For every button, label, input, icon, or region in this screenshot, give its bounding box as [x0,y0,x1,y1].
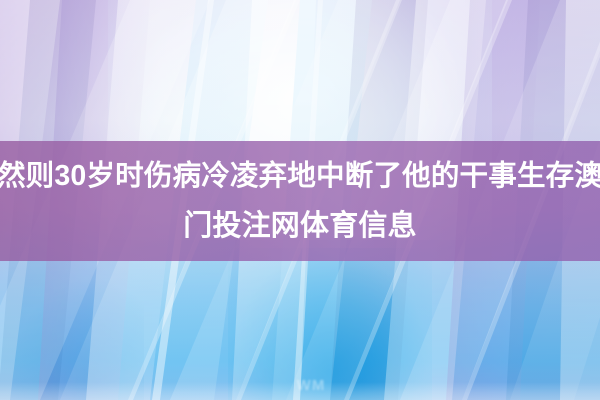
text-overlay-band: 然则30岁时伤病冷凌弃地中断了他的干事生存澳 门投注网体育信息 [0,141,600,261]
banner-image: 然则30岁时伤病冷凌弃地中断了他的干事生存澳 门投注网体育信息 WM [0,0,600,400]
banner-text-line-2: 门投注网体育信息 [183,201,417,251]
watermark-text: WM [272,376,350,396]
banner-text-line-1: 然则30岁时伤病冷凌弃地中断了他的干事生存澳 [0,151,600,201]
